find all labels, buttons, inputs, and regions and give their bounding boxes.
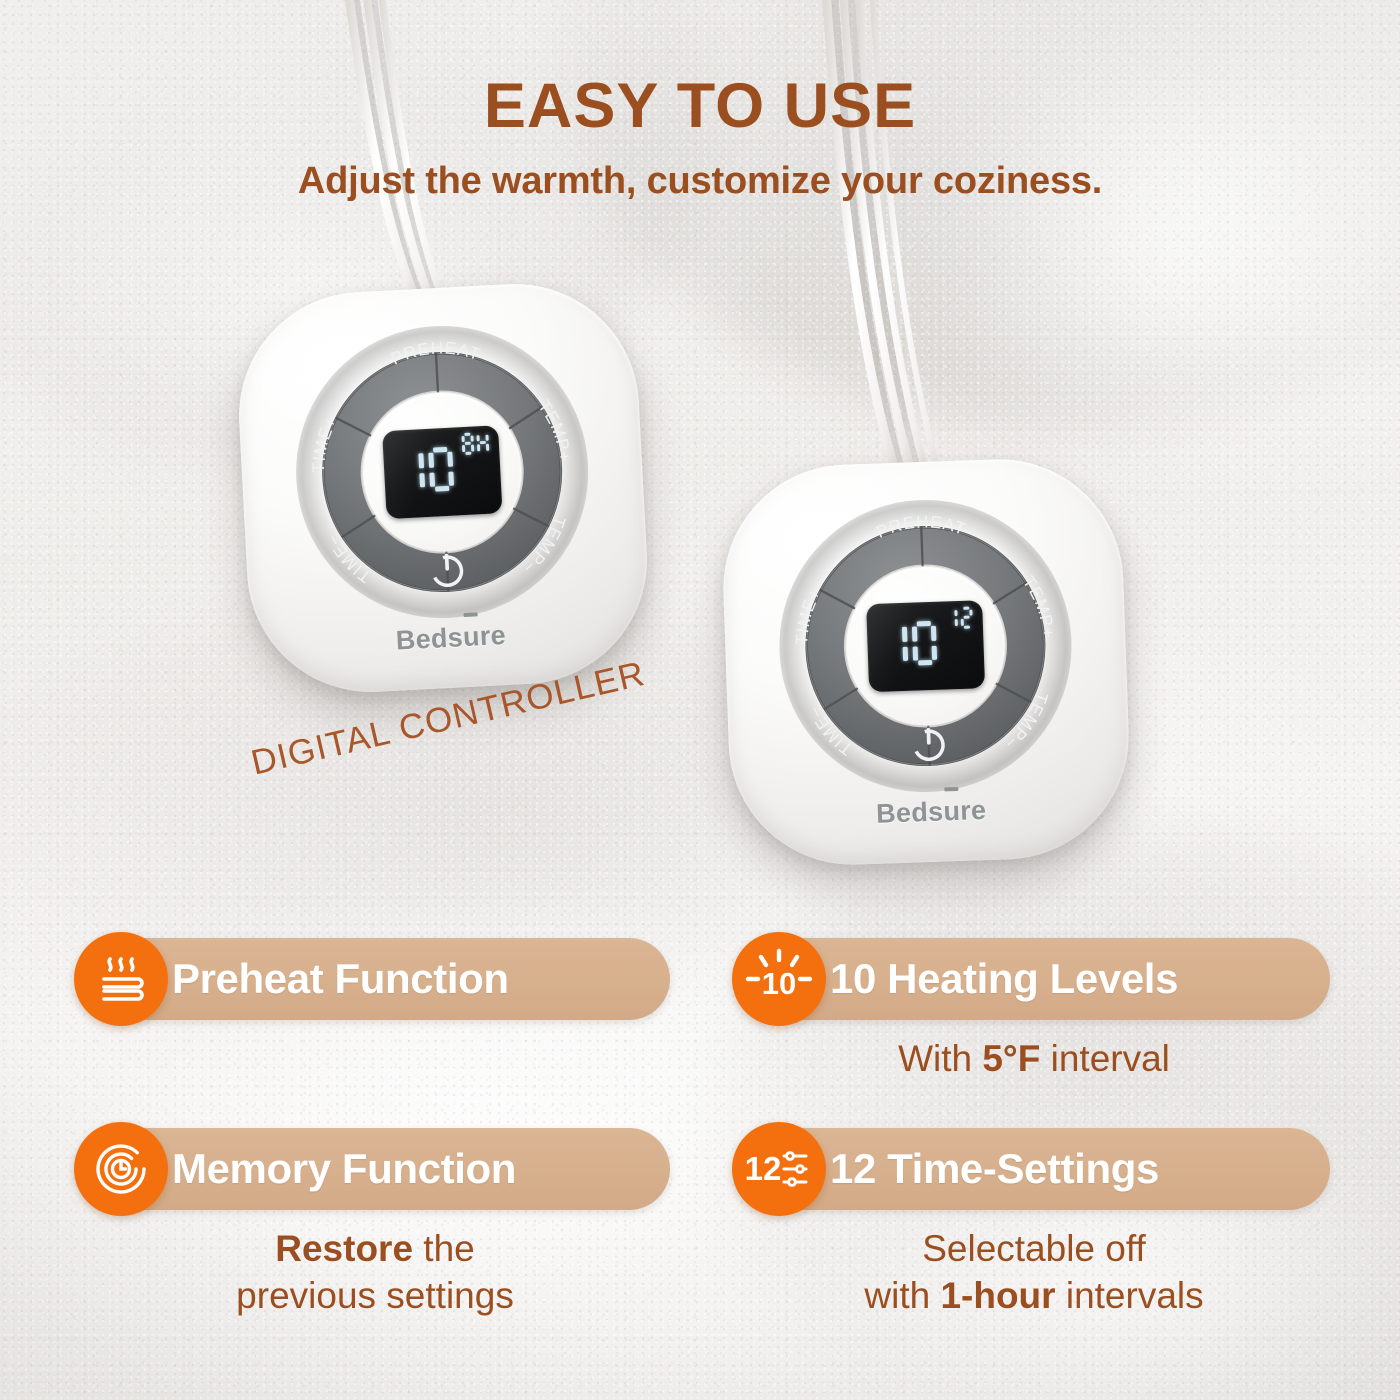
feature-caption: Selectable offwith 1-hour intervals: [738, 1226, 1330, 1319]
icon-number: 12: [745, 1150, 782, 1187]
feature-label: Preheat Function: [172, 955, 509, 1003]
seven-segment-digit: [912, 621, 938, 666]
spiral-clock-icon: [74, 1122, 168, 1216]
control-dial[interactable]: PREHEAT TEMP+ TEMP− TIME− TIME+: [774, 495, 1076, 797]
feature-label: 10 Heating Levels: [830, 955, 1178, 1003]
feature-pill[interactable]: 10 10 Heating Levels: [738, 938, 1330, 1020]
feature-pill[interactable]: Memory Function: [80, 1128, 670, 1210]
brand-logo: Bedsure: [395, 620, 507, 657]
seven-segment-digit: [883, 622, 909, 667]
page-subtitle: Adjust the warmth, customize your cozine…: [0, 160, 1400, 203]
seven-segment-digit: [399, 448, 425, 493]
seven-segment-digit: [476, 432, 489, 455]
sliders-number-icon: 12: [732, 1122, 826, 1216]
lcd-display: [866, 600, 986, 692]
seven-segment-digit: [428, 447, 454, 492]
feature-caption: Restore theprevious settings: [80, 1226, 670, 1319]
seven-segment-digit: [945, 607, 958, 629]
feature-time-settings: 12 12 Time-Settings Selectable offwith 1…: [738, 1128, 1330, 1319]
digital-controller-left[interactable]: PREHEAT TEMP+ TEMP− TIME− TIME+ Bedsure: [233, 278, 653, 698]
lcd-main-value: [399, 447, 454, 494]
feature-pill[interactable]: Preheat Function: [80, 938, 670, 1020]
feature-preheat-function: Preheat Function: [80, 938, 670, 1020]
steam-lines-over-blanket-icon: [74, 932, 168, 1026]
feature-memory-function: Memory Function Restore theprevious sett…: [80, 1128, 670, 1319]
feature-heating-levels: 10 10 Heating Levels With 5°F interval: [738, 938, 1330, 1083]
brand-logo: Bedsure: [876, 795, 987, 830]
lcd-display: [382, 425, 503, 519]
lcd-secondary-value: [461, 432, 489, 455]
digital-controller-right[interactable]: PREHEAT TEMP+ TEMP− TIME− TIME+ Bedsure: [719, 455, 1133, 869]
seven-segment-digit: [960, 606, 973, 628]
control-dial[interactable]: PREHEAT TEMP+ TEMP− TIME− TIME+: [289, 319, 596, 626]
page-title: EASY TO USE: [0, 70, 1400, 142]
lcd-secondary-value: [945, 606, 973, 629]
feature-label: Memory Function: [172, 1145, 516, 1193]
sun-rays-number-icon: 10: [732, 932, 826, 1026]
feature-label: 12 Time-Settings: [830, 1145, 1159, 1193]
feature-caption: With 5°F interval: [738, 1036, 1330, 1083]
lcd-main-value: [883, 621, 938, 667]
icon-number: 10: [762, 966, 796, 1001]
feature-pill[interactable]: 12 12 Time-Settings: [738, 1128, 1330, 1210]
marketing-image: EASY TO USE Adjust the warmth, customize…: [0, 0, 1400, 1400]
seven-segment-digit: [461, 432, 474, 455]
